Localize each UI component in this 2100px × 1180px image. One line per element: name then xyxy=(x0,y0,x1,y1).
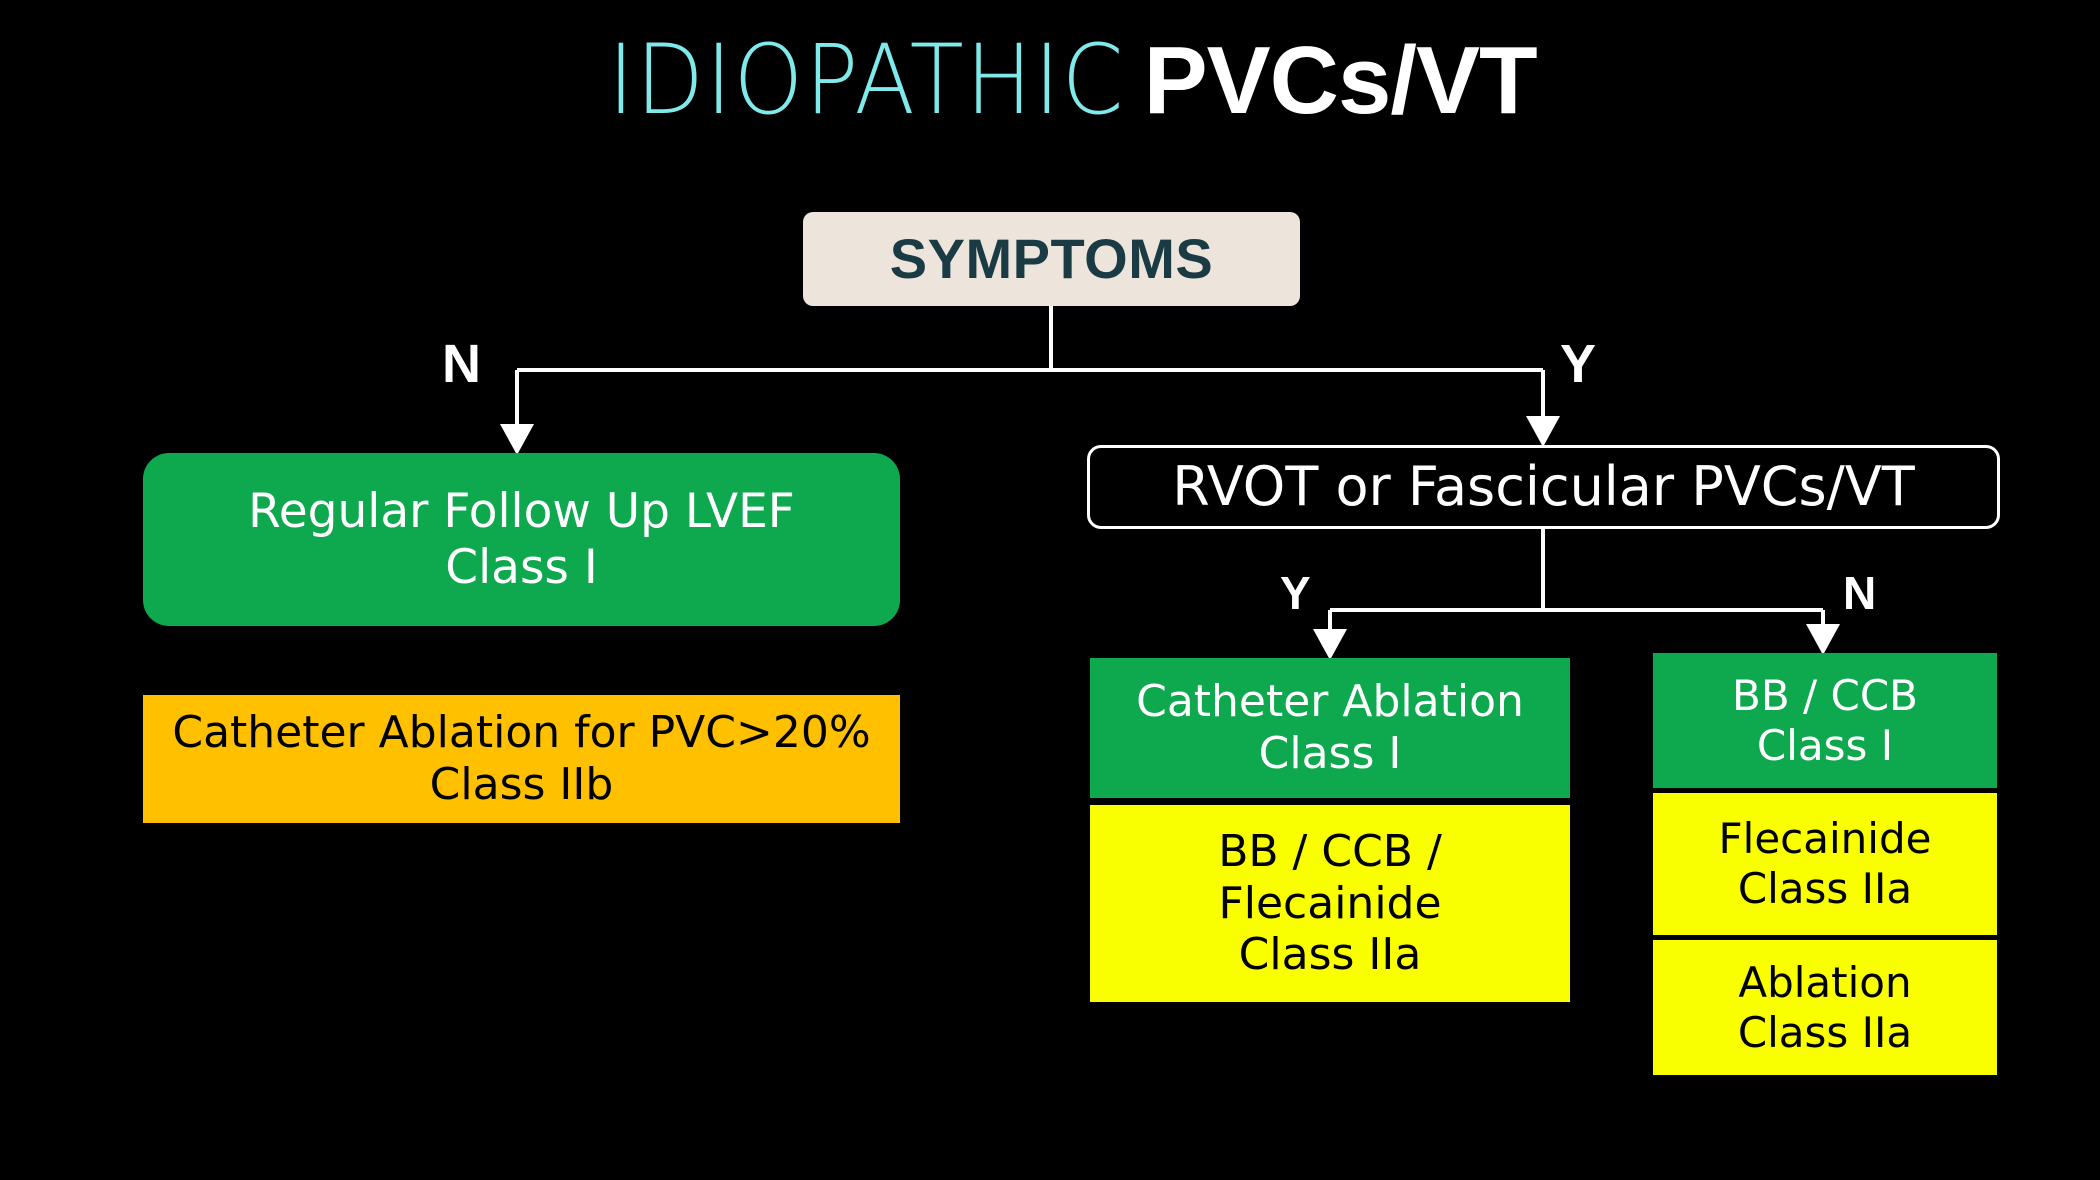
branch-label-rvot-no: N xyxy=(1843,570,1876,616)
node-right-bbccb-class: Class I xyxy=(1757,721,1893,771)
node-bb-ccb[interactable]: BB / CCB Class I xyxy=(1653,653,1997,788)
node-regular-follow-up-lvef[interactable]: Regular Follow Up LVEF Class I xyxy=(143,453,900,626)
branch-label-symptoms-yes: Y xyxy=(1560,337,1596,391)
node-mid-drugs-line1: BB / CCB / xyxy=(1218,826,1442,878)
node-right-ablation-class: Class IIa xyxy=(1738,1008,1912,1058)
node-rvot-or-fascicular[interactable]: RVOT or Fascicular PVCs/VT xyxy=(1087,445,2000,529)
page-title: IDIOPATHICPVCs/VT xyxy=(0,32,2100,129)
node-flecainide[interactable]: Flecainide Class IIa xyxy=(1653,793,1997,935)
node-ablation[interactable]: Ablation Class IIa xyxy=(1653,940,1997,1075)
node-mid-ablation-line1: Catheter Ablation xyxy=(1136,676,1524,728)
node-mid-ablation-class: Class I xyxy=(1259,728,1402,780)
node-catheter-ablation[interactable]: Catheter Ablation Class I xyxy=(1090,658,1570,798)
node-mid-drugs-class: Class IIa xyxy=(1239,929,1422,981)
flowchart-canvas: IDIOPATHICPVCs/VT xyxy=(0,0,2100,1180)
node-right-flec-class: Class IIa xyxy=(1738,864,1912,914)
title-main-text: PVCs/VT xyxy=(1144,33,1537,129)
node-followup-line1: Regular Follow Up LVEF xyxy=(248,484,795,539)
node-symptoms[interactable]: SYMPTOMS xyxy=(803,212,1300,306)
node-catheter-ablation-pvc-burden[interactable]: Catheter Ablation for PVC>20% Class IIb xyxy=(143,695,900,823)
branch-label-rvot-yes: Y xyxy=(1280,570,1311,616)
node-bb-ccb-flecainide[interactable]: BB / CCB / Flecainide Class IIa xyxy=(1090,805,1570,1002)
title-accent-text: IDIOPATHIC xyxy=(608,32,1125,128)
node-pvc20-class: Class IIb xyxy=(430,759,614,811)
node-rvot-label: RVOT or Fascicular PVCs/VT xyxy=(1172,455,1914,519)
branch-label-symptoms-no: N xyxy=(442,337,481,391)
node-right-flec-line1: Flecainide xyxy=(1719,814,1932,864)
node-mid-drugs-line2: Flecainide xyxy=(1218,878,1441,930)
node-pvc20-line1: Catheter Ablation for PVC>20% xyxy=(172,707,870,759)
node-symptoms-label: SYMPTOMS xyxy=(890,226,1213,292)
node-right-bbccb-line1: BB / CCB xyxy=(1732,671,1918,721)
node-right-ablation-line1: Ablation xyxy=(1738,958,1911,1008)
node-followup-class: Class I xyxy=(445,540,597,595)
